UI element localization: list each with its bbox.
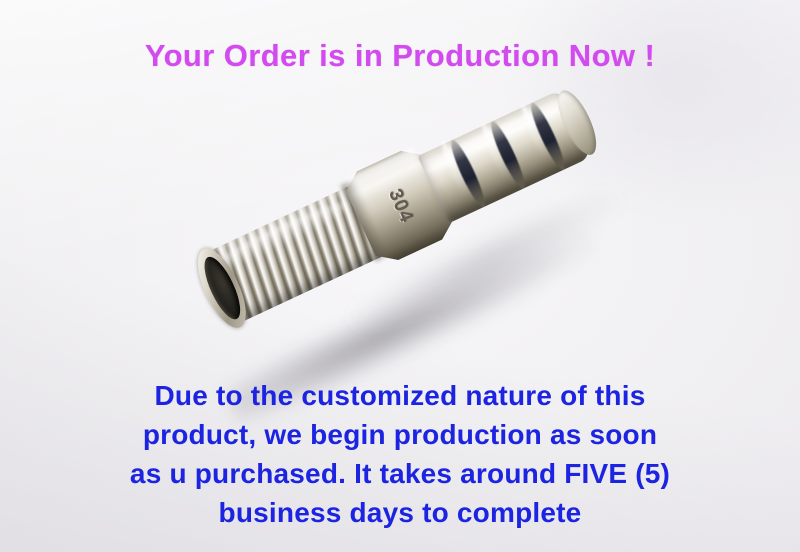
headline-text: Your Order is in Production Now !: [0, 38, 800, 74]
production-notice-card: Your Order is in Production Now ! 304: [0, 0, 800, 552]
body-copy-line: product, we begin production as soon: [0, 415, 800, 454]
body-copy-line: business days to complete: [0, 493, 800, 532]
body-copy-block: Due to the customized nature of this pro…: [0, 376, 800, 532]
body-copy-line: as u purchased. It takes around FIVE (5): [0, 454, 800, 493]
body-copy-line: Due to the customized nature of this: [0, 376, 800, 415]
product-photo: 304: [150, 118, 670, 386]
